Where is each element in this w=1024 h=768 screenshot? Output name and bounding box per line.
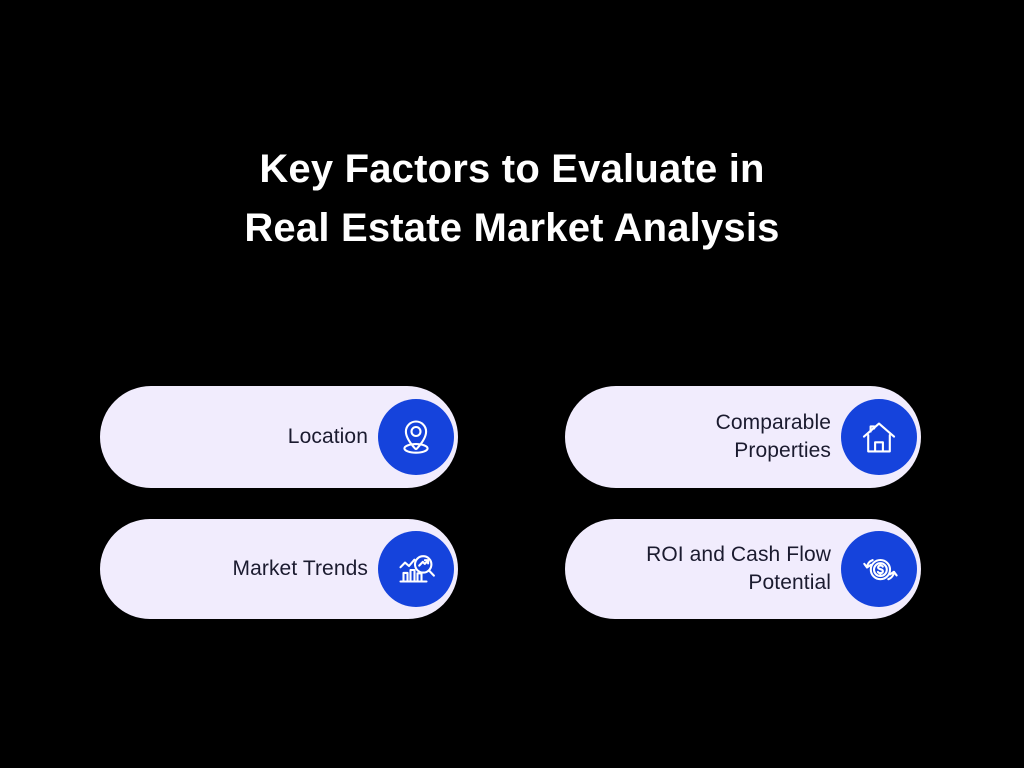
factor-card-location[interactable]: Location	[100, 386, 458, 488]
factor-card-label: Comparable Properties	[716, 409, 841, 465]
house-icon	[841, 399, 917, 475]
factor-card-label: ROI and Cash Flow Potential	[646, 541, 841, 597]
factor-card-market-trends[interactable]: Market Trends	[100, 519, 458, 619]
page-title: Key Factors to Evaluate in Real Estate M…	[0, 140, 1024, 258]
page-title-line-2: Real Estate Market Analysis	[0, 199, 1024, 258]
factor-cards-grid: Location Comparable Properties Market Tr…	[100, 386, 924, 622]
factor-card-comparable-properties[interactable]: Comparable Properties	[565, 386, 921, 488]
factor-card-label: Location	[288, 423, 378, 451]
factor-card-roi-cash-flow[interactable]: ROI and Cash Flow Potential	[565, 519, 921, 619]
factor-card-label: Market Trends	[232, 555, 378, 583]
page-title-line-1: Key Factors to Evaluate in	[0, 140, 1024, 199]
map-pin-icon	[378, 399, 454, 475]
chart-magnifier-icon	[378, 531, 454, 607]
money-return-icon	[841, 531, 917, 607]
